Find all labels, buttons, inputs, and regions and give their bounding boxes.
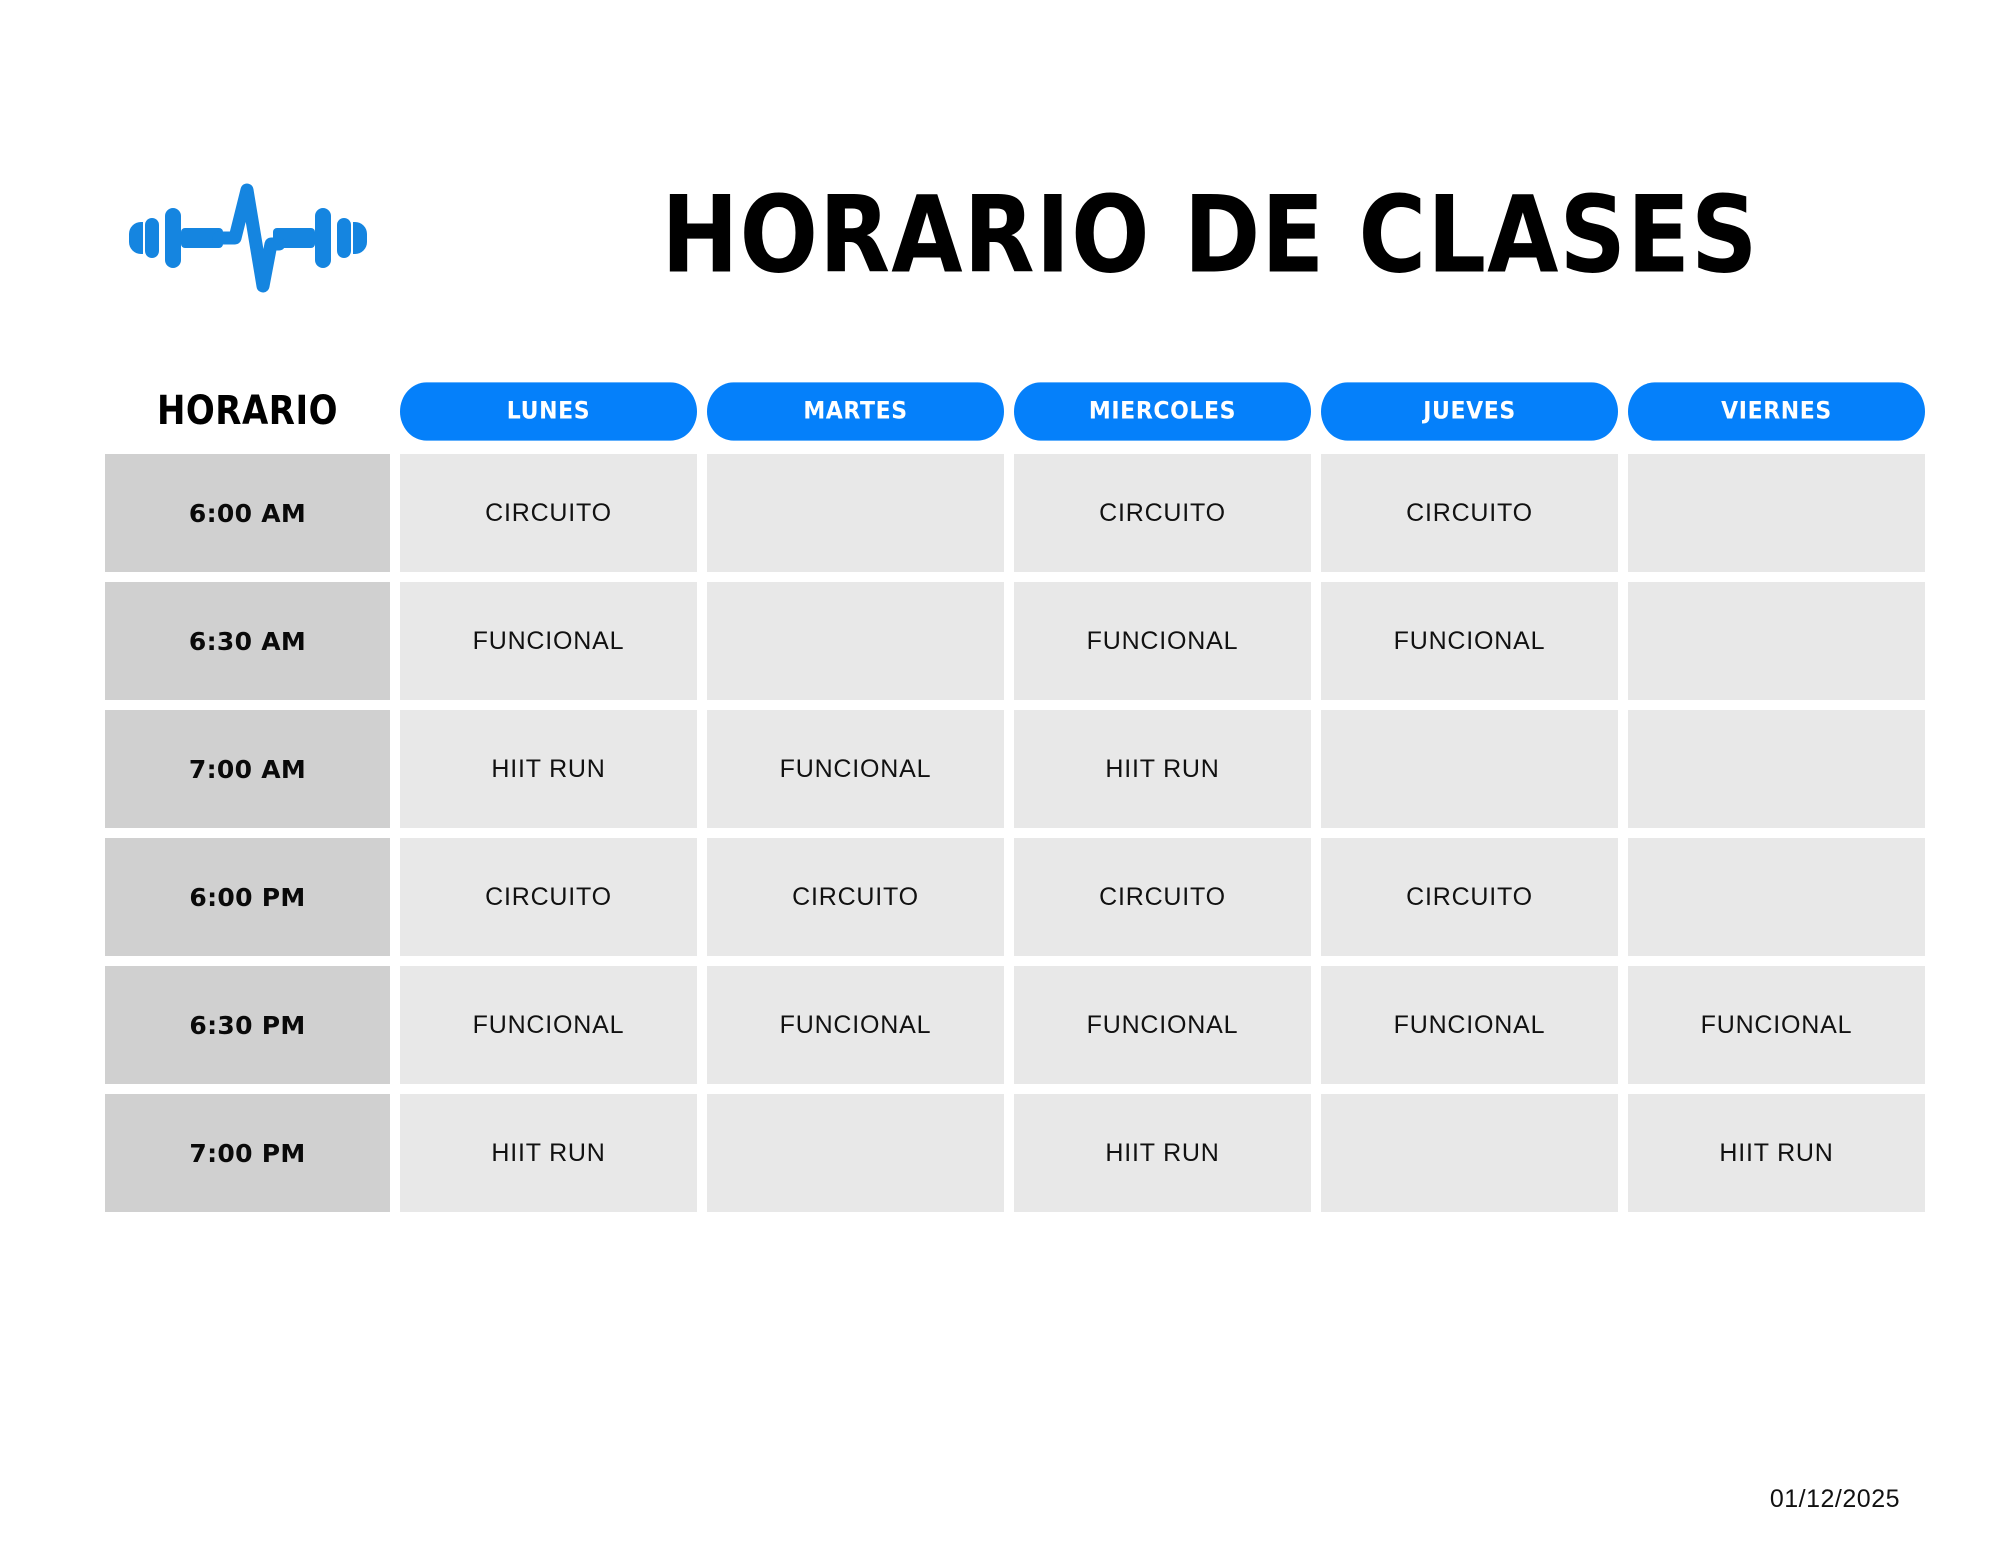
class-cell[interactable] [1321, 1094, 1618, 1212]
class-cell[interactable]: FUNCIONAL [400, 966, 697, 1084]
class-cell[interactable] [1628, 710, 1925, 828]
class-cell[interactable]: HIIT RUN [400, 710, 697, 828]
table-row: 6:00 AM CIRCUITO CIRCUITO CIRCUITO [105, 454, 1950, 572]
class-cell[interactable]: FUNCIONAL [1014, 966, 1311, 1084]
page-title: HORARIO DE CLASES [484, 156, 1936, 315]
class-cell[interactable]: FUNCIONAL [1321, 582, 1618, 700]
time-label: 6:30 AM [105, 582, 390, 700]
class-cell[interactable] [1628, 582, 1925, 700]
class-cell[interactable]: CIRCUITO [400, 838, 697, 956]
table-header-row: HORARIO LUNES MARTES MIERCOLES JUEVES VI… [105, 378, 1950, 444]
day-header-viernes[interactable]: VIERNES [1628, 382, 1925, 440]
class-cell[interactable]: FUNCIONAL [1321, 966, 1618, 1084]
class-cell[interactable]: HIIT RUN [1014, 1094, 1311, 1212]
class-cell[interactable]: CIRCUITO [1321, 838, 1618, 956]
class-cell[interactable]: CIRCUITO [1321, 454, 1618, 572]
class-cell[interactable]: CIRCUITO [1014, 454, 1311, 572]
class-cell[interactable]: CIRCUITO [707, 838, 1004, 956]
class-cell[interactable]: FUNCIONAL [1014, 582, 1311, 700]
class-cell[interactable]: FUNCIONAL [707, 710, 1004, 828]
dumbbell-pulse-icon [123, 182, 373, 302]
schedule-table: HORARIO LUNES MARTES MIERCOLES JUEVES VI… [105, 378, 1950, 1212]
class-cell[interactable] [707, 582, 1004, 700]
time-label: 6:00 AM [105, 454, 390, 572]
day-header-miercoles[interactable]: MIERCOLES [1014, 382, 1311, 440]
time-column-header: HORARIO [105, 372, 390, 450]
class-cell[interactable] [707, 1094, 1004, 1212]
class-cell[interactable]: HIIT RUN [1014, 710, 1311, 828]
class-cell[interactable]: HIIT RUN [400, 1094, 697, 1212]
time-label: 7:00 PM [105, 1094, 390, 1212]
footer-date: 01/12/2025 [1770, 1485, 1900, 1514]
day-header-martes[interactable]: MARTES [707, 382, 1004, 440]
class-cell[interactable] [1628, 838, 1925, 956]
table-row: 6:00 PM CIRCUITO CIRCUITO CIRCUITO CIRCU… [105, 838, 1950, 956]
class-cell[interactable] [707, 454, 1004, 572]
table-row: 7:00 AM HIIT RUN FUNCIONAL HIIT RUN [105, 710, 1950, 828]
class-cell[interactable]: HIIT RUN [1628, 1094, 1925, 1212]
page-header: HORARIO DE CLASES [105, 170, 1895, 300]
class-cell[interactable] [1628, 454, 1925, 572]
class-cell[interactable]: CIRCUITO [1014, 838, 1311, 956]
table-row: 6:30 AM FUNCIONAL FUNCIONAL FUNCIONAL [105, 582, 1950, 700]
time-label: 6:30 PM [105, 966, 390, 1084]
time-label: 6:00 PM [105, 838, 390, 956]
class-cell[interactable] [1321, 710, 1618, 828]
day-header-lunes[interactable]: LUNES [400, 382, 697, 440]
schedule-page: HORARIO DE CLASES HORARIO LUNES MARTES M… [0, 0, 2000, 1545]
day-header-jueves[interactable]: JUEVES [1321, 382, 1618, 440]
table-row: 6:30 PM FUNCIONAL FUNCIONAL FUNCIONAL FU… [105, 966, 1950, 1084]
class-cell[interactable]: CIRCUITO [400, 454, 697, 572]
table-row: 7:00 PM HIIT RUN HIIT RUN HIIT RUN [105, 1094, 1950, 1212]
class-cell[interactable]: FUNCIONAL [400, 582, 697, 700]
time-label: 7:00 AM [105, 710, 390, 828]
class-cell[interactable]: FUNCIONAL [707, 966, 1004, 1084]
class-cell[interactable]: FUNCIONAL [1628, 966, 1925, 1084]
